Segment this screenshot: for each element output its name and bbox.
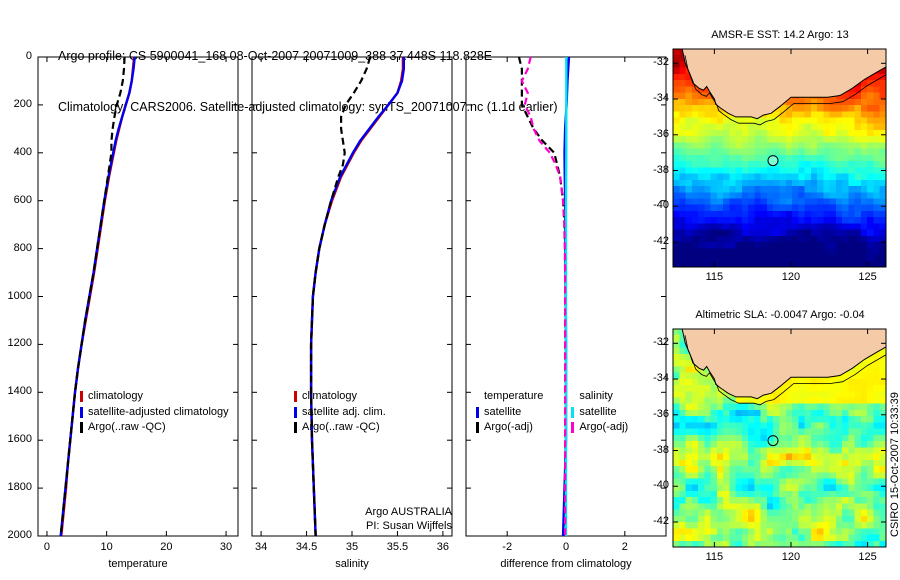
legend-label: satellite xyxy=(484,405,521,421)
map-sla xyxy=(660,0,900,580)
series-satellite-adjusted-climatology xyxy=(61,57,135,536)
attribution-line-1: Argo AUSTRALIA xyxy=(318,505,452,519)
legend-entry: climatology xyxy=(80,389,229,405)
depth-tick-label: 400 xyxy=(0,146,32,158)
map-ytick: -38 xyxy=(639,444,669,456)
legend-label: satellite-adjusted climatology xyxy=(88,405,229,421)
legend-swatch-icon xyxy=(80,407,83,418)
axes-frame-salinity xyxy=(252,57,452,536)
legend-swatch-icon xyxy=(294,422,297,433)
attribution: Argo AUSTRALIAPI: Susan Wijffels xyxy=(318,505,452,533)
legend-salinity: climatologysatellite adj. clim.Argo(..ra… xyxy=(294,389,386,436)
legend-group-title: salinity xyxy=(571,389,628,405)
map-xtick: 115 xyxy=(694,551,734,563)
xtick-salinity: 35.5 xyxy=(372,541,422,553)
legend-swatch-icon xyxy=(80,391,83,402)
map-ytick: -32 xyxy=(639,336,669,348)
legend-difference: temperaturesatelliteArgo(-adj)salinitysa… xyxy=(476,389,628,436)
legend-entry: satellite adj. clim. xyxy=(294,405,386,421)
series-climatology xyxy=(311,57,403,536)
legend-swatch-icon xyxy=(571,407,574,418)
legend-swatch-icon xyxy=(476,407,479,418)
xtick-difference: -2 xyxy=(482,541,532,553)
legend-column: salinitysatelliteArgo(-adj) xyxy=(571,389,628,436)
legend-entry: Argo(..raw -QC) xyxy=(80,420,229,436)
xtick-temperature: 10 xyxy=(82,541,132,553)
legend-swatch-icon xyxy=(294,407,297,418)
csiro-timestamp: CSIRO 15-Oct-2007 10:33:39 xyxy=(889,537,900,549)
map-ytick: -42 xyxy=(639,515,669,527)
map-panels: AMSR-E SST: 14.2 Argo: 13115120125-32-34… xyxy=(660,0,900,580)
map-xtick: 125 xyxy=(848,551,888,563)
legend-label: climatology xyxy=(302,389,357,405)
xtick-difference: 2 xyxy=(600,541,650,553)
depth-tick-label: 1200 xyxy=(0,337,32,349)
map-ytick: -40 xyxy=(639,479,669,491)
depth-tick-label: 800 xyxy=(0,242,32,254)
legend-column: temperaturesatelliteArgo(-adj) xyxy=(476,389,543,436)
xlabel-temperature: temperature xyxy=(18,558,258,570)
legend-swatch-icon xyxy=(571,422,574,433)
legend-label: Argo(..raw -QC) xyxy=(88,420,166,436)
legend-label: climatology xyxy=(88,389,143,405)
xlabel-difference: difference from climatology xyxy=(446,558,686,570)
legend-swatch-icon xyxy=(80,422,83,433)
depth-tick-label: 1000 xyxy=(0,290,32,302)
map-xtick: 120 xyxy=(771,551,811,563)
xtick-salinity: 34.5 xyxy=(282,541,332,553)
series-argo-raw-qc- xyxy=(61,57,125,536)
legend-swatch-icon xyxy=(294,391,297,402)
xtick-temperature: 0 xyxy=(22,541,72,553)
xtick-salinity: 35 xyxy=(327,541,377,553)
legend-label: satellite xyxy=(579,405,616,421)
legend-label: satellite adj. clim. xyxy=(302,405,386,421)
depth-tick-label: 0 xyxy=(0,50,32,62)
axes-frame-difference xyxy=(466,57,666,536)
legend-entry: Argo(-adj) xyxy=(571,420,628,436)
legend-label: Argo(..raw -QC) xyxy=(302,420,380,436)
legend-label: Argo(-adj) xyxy=(484,420,533,436)
attribution-line-2: PI: Susan Wijffels xyxy=(318,519,452,533)
series-argo-raw-qc- xyxy=(311,57,370,536)
map-ytick: -36 xyxy=(639,408,669,420)
xtick-difference: 0 xyxy=(541,541,591,553)
legend-entry: satellite xyxy=(571,405,628,421)
depth-tick-label: 1800 xyxy=(0,481,32,493)
map-ytick: -34 xyxy=(639,372,669,384)
xtick-temperature: 20 xyxy=(141,541,191,553)
xtick-salinity: 36 xyxy=(418,541,468,553)
axes-frame-temperature xyxy=(38,57,238,536)
legend-temperature: climatologysatellite-adjusted climatolog… xyxy=(80,389,229,436)
series-temperature-argo-adj- xyxy=(519,57,565,536)
xtick-salinity: 34 xyxy=(236,541,286,553)
depth-tick-label: 1400 xyxy=(0,385,32,397)
legend-swatch-icon xyxy=(476,422,479,433)
xlabel-salinity: salinity xyxy=(232,558,472,570)
legend-entry: satellite-adjusted climatology xyxy=(80,405,229,421)
legend-entry: Argo(-adj) xyxy=(476,420,543,436)
depth-tick-label: 600 xyxy=(0,194,32,206)
legend-group-title: temperature xyxy=(476,389,543,405)
depth-tick-label: 1600 xyxy=(0,433,32,445)
legend-entry: satellite xyxy=(476,405,543,421)
series-salinity-argo-adj- xyxy=(522,57,565,536)
depth-tick-label: 200 xyxy=(0,98,32,110)
series-satellite-adj-clim- xyxy=(311,57,404,536)
profile-panels: 0102030temperatureclimatologysatellite-a… xyxy=(0,0,670,580)
series-temperature-satellite xyxy=(563,57,569,536)
depth-tick-label: 2000 xyxy=(0,529,32,541)
csiro-timestamp-text: CSIRO 15-Oct-2007 10:33:39 xyxy=(889,392,900,537)
legend-entry: climatology xyxy=(294,389,386,405)
series-climatology xyxy=(61,57,134,536)
legend-label: Argo(-adj) xyxy=(579,420,628,436)
legend-entry: Argo(..raw -QC) xyxy=(294,420,386,436)
